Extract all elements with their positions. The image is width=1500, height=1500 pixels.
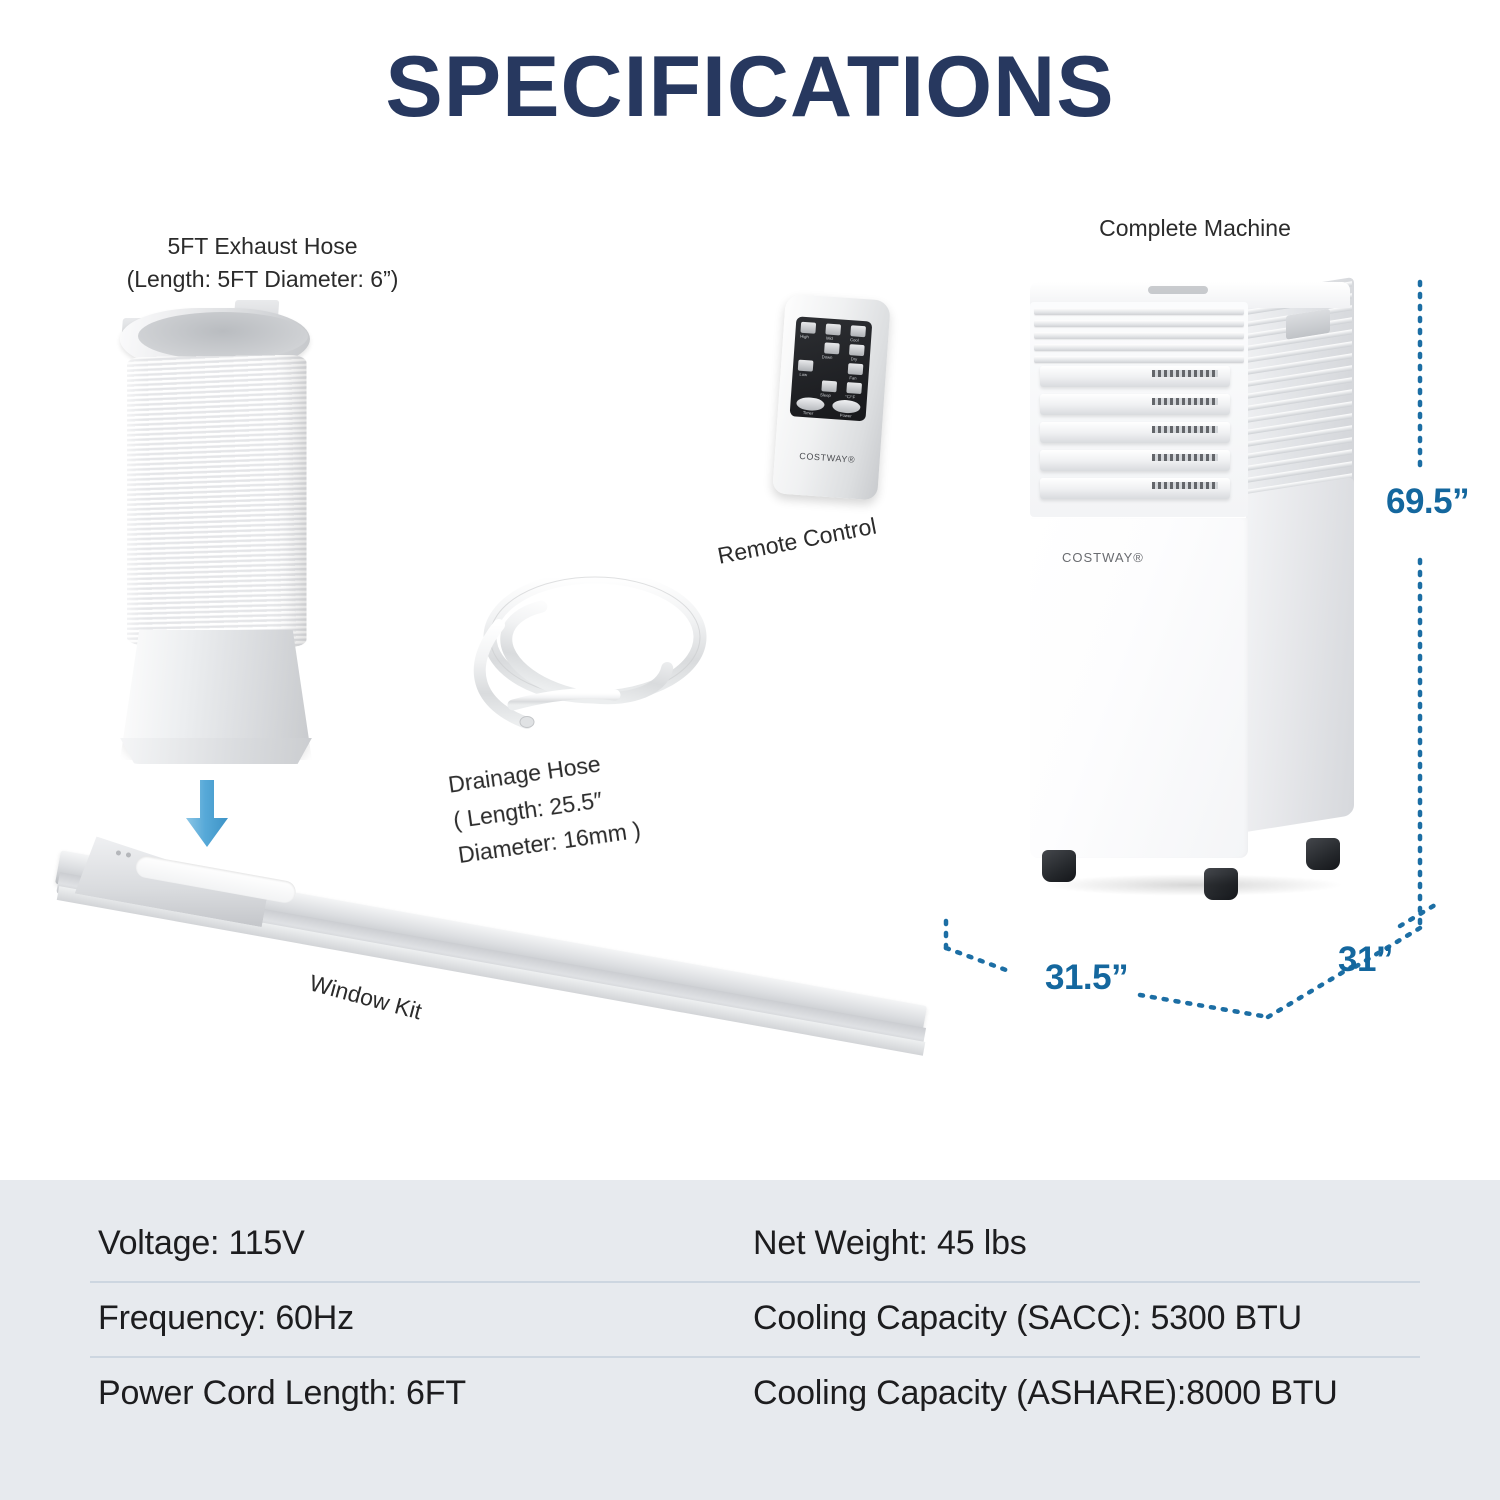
hose-mouth — [138, 312, 308, 360]
height-dimension-label: 69.5” — [1386, 482, 1469, 522]
ac-caster — [1306, 838, 1340, 870]
ac-top-handle — [1148, 286, 1208, 294]
remote-control-image: High Mid Cool Down Dry Low Fan Sleep °C/… — [772, 294, 891, 501]
exhaust-hose-label: 5FT Exhaust Hose (Length: 5FT Diameter: … — [60, 230, 465, 297]
width-dimension-label: 31.5” — [1045, 958, 1128, 998]
complete-machine-label: Complete Machine — [1010, 212, 1380, 245]
remote-control-label: Remote Control — [715, 510, 879, 573]
drainage-hose-image — [455, 555, 725, 745]
remote-button-high[interactable] — [800, 322, 816, 334]
remote-button-power[interactable] — [832, 399, 861, 414]
remote-button-low[interactable] — [798, 360, 814, 372]
remote-button-unit[interactable] — [846, 382, 862, 394]
remote-label-cool: Cool — [850, 337, 859, 343]
spec-frequency: Frequency: 60Hz — [90, 1283, 745, 1358]
ac-lower-body — [1030, 518, 1248, 858]
remote-label-high: High — [800, 334, 809, 340]
remote-label-power: Power — [840, 413, 852, 419]
remote-label-mid: Mid — [826, 335, 833, 340]
exhaust-hose-detail: (Length: 5FT Diameter: 6”) — [60, 263, 465, 296]
hose-corrugated-body — [127, 355, 307, 647]
remote-label-down: Down — [822, 354, 833, 360]
remote-button-down[interactable] — [824, 342, 840, 354]
page-title: SPECIFICATIONS — [0, 38, 1500, 137]
remote-button-panel: High Mid Cool Down Dry Low Fan Sleep °C/… — [790, 316, 873, 421]
remote-button-timer[interactable] — [796, 397, 825, 412]
exhaust-hose-name: 5FT Exhaust Hose — [60, 230, 465, 263]
remote-label-unit: °C/°F — [845, 394, 855, 400]
remote-button-dry[interactable] — [849, 344, 865, 356]
spec-voltage: Voltage: 115V — [90, 1208, 745, 1283]
remote-label-fan: Fan — [849, 375, 857, 380]
ac-lower-side-panel — [1246, 477, 1354, 832]
remote-label-dry: Dry — [851, 356, 858, 361]
remote-button-cool[interactable] — [850, 325, 866, 337]
specifications-table: Voltage: 115V Net Weight: 45 lbs Frequen… — [90, 1208, 1420, 1431]
ac-shadow — [1044, 874, 1344, 896]
hose-adapter-lip — [114, 738, 318, 764]
remote-label-sleep: Sleep — [820, 392, 831, 398]
remote-label-timer: Timer — [803, 410, 814, 416]
spec-power-cord: Power Cord Length: 6FT — [90, 1358, 745, 1431]
window-kit-image — [58, 836, 948, 1056]
remote-button-sleep[interactable] — [821, 380, 837, 392]
remote-label-low: Low — [799, 372, 807, 378]
ac-front-grille — [1030, 302, 1248, 517]
spec-cooling-ashare: Cooling Capacity (ASHARE):8000 BTU — [745, 1358, 1420, 1431]
height-dimension-line — [1380, 280, 1500, 980]
spec-net-weight: Net Weight: 45 lbs — [745, 1208, 1420, 1283]
exhaust-hose-image — [112, 300, 327, 780]
specifications-panel: Voltage: 115V Net Weight: 45 lbs Frequen… — [0, 1180, 1500, 1500]
depth-dimension-label: 31” — [1338, 940, 1393, 980]
remote-button-fan[interactable] — [848, 363, 864, 375]
air-conditioner-image: COSTWAY® — [1018, 282, 1378, 922]
spec-cooling-sacc: Cooling Capacity (SACC): 5300 BTU — [745, 1283, 1420, 1358]
ac-brand-logo: COSTWAY® — [1062, 550, 1144, 565]
remote-button-mid[interactable] — [825, 323, 841, 335]
